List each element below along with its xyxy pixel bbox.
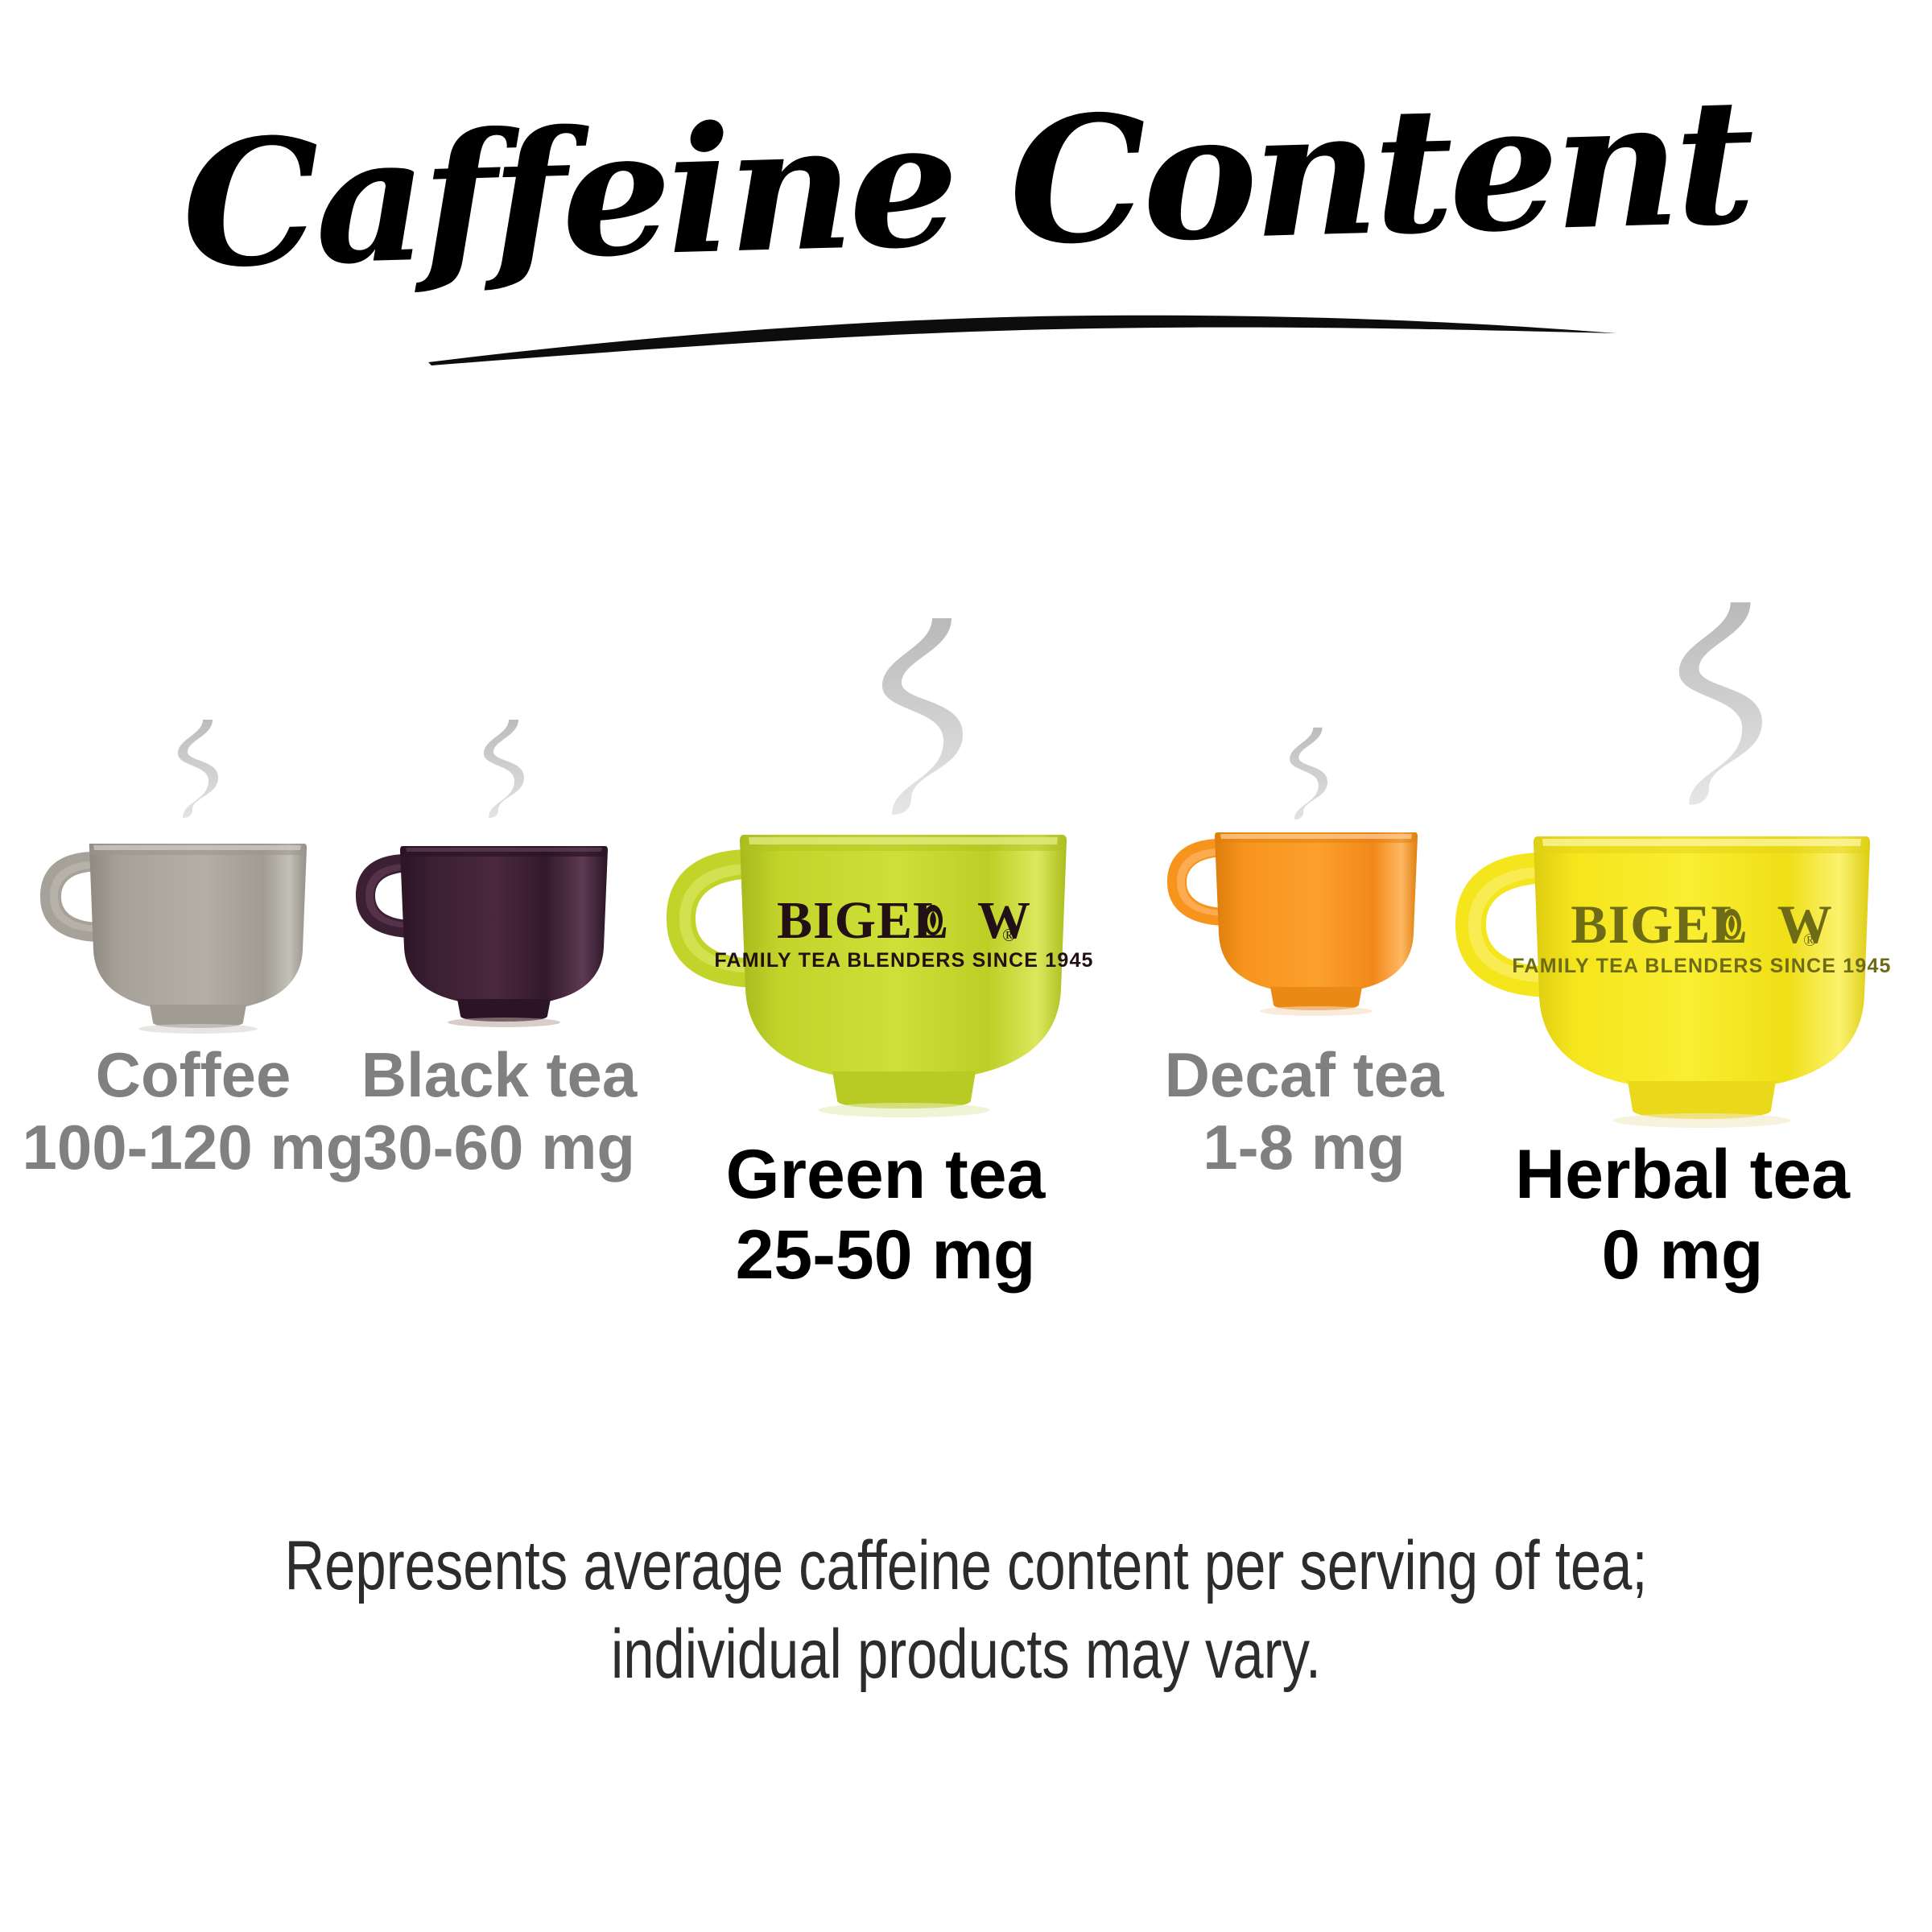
mug-decaf-tea [1158, 821, 1465, 1032]
footnote-disclaimer: Represents average caffeine content per … [193, 1521, 1739, 1699]
bigelow-registered-green: ® [1002, 925, 1016, 945]
steam-icon-decaf-tea [1278, 724, 1331, 823]
cup-unit-black-tea: Black tea 30-60 mg [338, 716, 660, 1167]
cup-amount-black-tea: 30-60 mg [361, 1111, 638, 1183]
steam-icon-coffee [165, 716, 221, 821]
cup-label-green-tea: Green tea 25-50 mg [726, 1135, 1046, 1296]
mug-black-tea [346, 833, 660, 1034]
steam-icon-herbal-tea [1644, 596, 1777, 811]
cup-unit-herbal-tea: BIGEL W ® FAMILY TEA BLENDERS SINCE 1945… [1449, 596, 1916, 1175]
cup-amount-coffee: 100-120 mg [23, 1111, 365, 1183]
teapot-icon-green [923, 905, 943, 935]
mug-coffee [32, 829, 354, 1038]
bigelow-wordmark-herbal: BIGEL W [1571, 894, 1832, 955]
cup-label-decaf-tea: Decaf tea 1-8 mg [1165, 1038, 1444, 1184]
cup-name-black-tea: Black tea [361, 1038, 638, 1111]
teapot-icon-herbal [1722, 909, 1741, 939]
steam-icon-black-tea [471, 716, 527, 821]
bigelow-tagline-green: FAMILY TEA BLENDERS SINCE 1945 [714, 949, 1093, 972]
cup-label-coffee: Coffee 100-120 mg [23, 1038, 365, 1184]
footnote-line-2: individual products may vary. [193, 1610, 1739, 1699]
footnote-line-1: Represents average caffeine content per … [193, 1521, 1739, 1610]
infographic-canvas: Caffeine Content [0, 0, 1932, 1932]
bigelow-wordmark-green: BIGEL W [777, 891, 1031, 950]
mug-herbal-tea: BIGEL W ® FAMILY TEA BLENDERS SINCE 1945 [1449, 817, 1916, 1139]
cup-amount-decaf-tea: 1-8 mg [1165, 1111, 1444, 1183]
cup-name-herbal-tea: Herbal tea [1515, 1135, 1850, 1216]
cup-name-decaf-tea: Decaf tea [1165, 1038, 1444, 1111]
cup-name-green-tea: Green tea [726, 1135, 1046, 1216]
steam-icon-green-tea [848, 612, 977, 821]
cup-unit-decaf-tea: Decaf tea 1-8 mg [1143, 716, 1465, 1167]
bigelow-registered-herbal: ® [1803, 930, 1817, 950]
cup-label-black-tea: Black tea 30-60 mg [361, 1038, 638, 1184]
cup-amount-herbal-tea: 0 mg [1515, 1216, 1850, 1296]
cup-unit-coffee: Coffee 100-120 mg [32, 716, 354, 1167]
cup-label-herbal-tea: Herbal tea 0 mg [1515, 1135, 1850, 1296]
cup-amount-green-tea: 25-50 mg [726, 1216, 1046, 1296]
cup-unit-green-tea: BIGEL W ® FAMILY TEA BLENDERS SINCE 1945… [660, 612, 1111, 1175]
cup-name-coffee: Coffee [23, 1038, 365, 1111]
mug-green-tea: BIGEL W ® FAMILY TEA BLENDERS SINCE 1945 [660, 817, 1111, 1131]
bigelow-tagline-herbal: FAMILY TEA BLENDERS SINCE 1945 [1512, 955, 1891, 977]
